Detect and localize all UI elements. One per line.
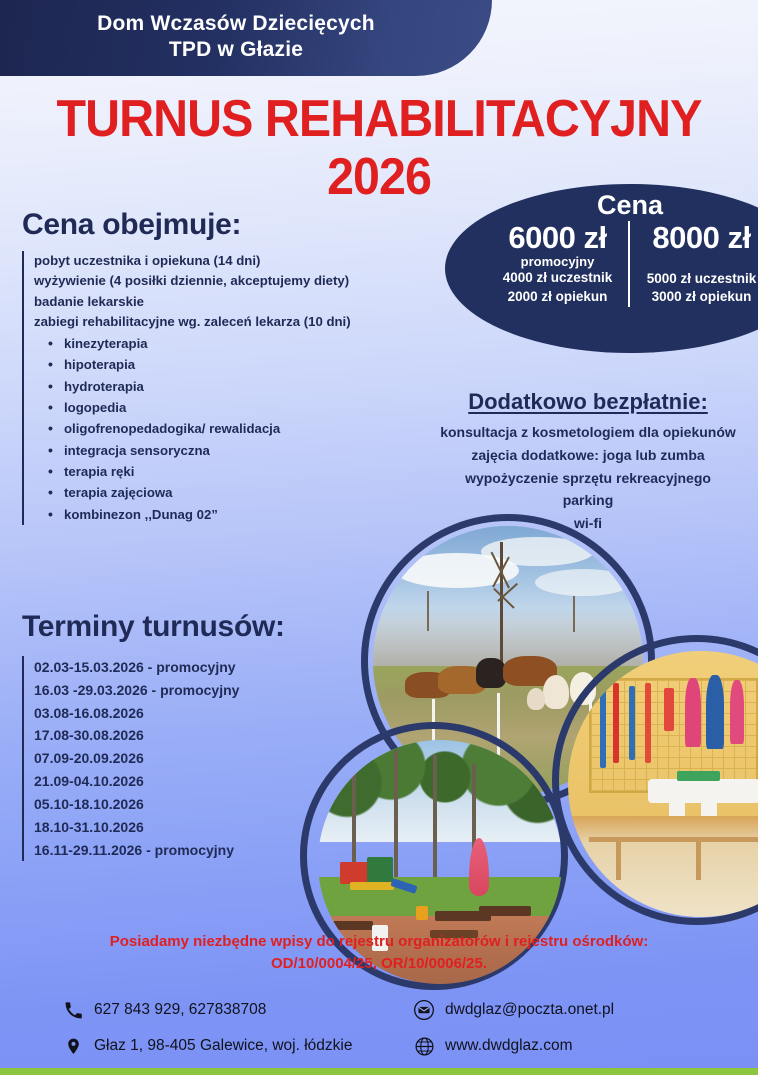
price-label-promotional: promocyjny <box>490 255 625 269</box>
poster-root: Dom Wczasów Dziecięcych TPD w Głazie TUR… <box>0 0 758 1075</box>
price-columns: 6000 zł promocyjny 4000 zł uczestnik 200… <box>445 221 758 307</box>
list-item: 17.08-30.08.2026 <box>34 724 402 747</box>
price-participant-promotional: 4000 zł uczestnik <box>490 269 625 288</box>
photo-playground-trunk <box>433 755 437 887</box>
organization-name-line1: Dom Wczasów Dziecięcych <box>97 11 375 37</box>
organization-name: Dom Wczasów Dziecięcych TPD w Głazie <box>97 11 375 62</box>
list-item: 21.09-04.10.2026 <box>34 770 402 793</box>
phone-icon <box>58 1001 88 1020</box>
contact-phone[interactable]: 627 843 929, 627838708 <box>58 992 379 1028</box>
list-item: 02.03-15.03.2026 - promocyjny <box>34 656 402 679</box>
list-item: kinezyterapia <box>64 333 442 354</box>
organization-name-line2: TPD w Głazie <box>97 37 375 63</box>
photo-animals-branch <box>427 591 429 631</box>
list-item: terapia ręki <box>64 461 442 482</box>
list-item: 05.10-18.10.2026 <box>34 793 402 816</box>
photo-rehab-rail-post <box>696 837 701 880</box>
list-item: 18.10-31.10.2026 <box>34 816 402 839</box>
photo-rehab-table <box>648 779 758 803</box>
photo-playground-table <box>479 906 531 916</box>
photo-rehab-equipment <box>730 680 744 744</box>
photo-rehab-equipment <box>685 678 701 747</box>
list-item: 07.09-20.09.2026 <box>34 747 402 770</box>
includes-line: badanie lekarskie <box>34 292 442 312</box>
list-item: kombinezon ,,Dunag 02” <box>64 504 442 525</box>
photo-rehab-equipment <box>706 675 724 749</box>
email-icon <box>409 999 439 1021</box>
list-item: 03.08-16.08.2026 <box>34 702 402 725</box>
includes-heading: Cena obejmuje: <box>22 210 442 240</box>
dates-heading: Terminy turnusów: <box>22 612 402 642</box>
contact-website[interactable]: www.dwdglaz.com <box>409 1028 758 1064</box>
page-title-line1: TURNUS REHABILITACYJNY <box>57 90 702 148</box>
contact-column-left: 627 843 929, 627838708 Głaz 1, 98-405 Ga… <box>0 992 379 1064</box>
price-column-promotional: 6000 zł promocyjny 4000 zł uczestnik 200… <box>487 221 630 307</box>
extras-line: zajęcia dodatkowe: joga lub zumba <box>418 444 758 467</box>
photo-playground-table <box>333 921 373 930</box>
contact-column-right: dwdglaz@poczta.onet.pl www.dwdglaz.com <box>379 992 758 1064</box>
includes-line: pobyt uczestnika i opiekuna (14 dni) <box>34 251 442 271</box>
list-item: 16.03 -29.03.2026 - promocyjny <box>34 679 402 702</box>
photo-rehab-floor <box>568 816 758 917</box>
photo-rehab-mat <box>677 771 720 782</box>
registry-note-line1: Posiadamy niezbędne wpisy do rejestru or… <box>0 931 758 953</box>
photo-playground-structure <box>340 862 370 884</box>
extras-line: parking <box>418 489 758 512</box>
dates-list: 02.03-15.03.2026 - promocyjny 16.03 -29.… <box>22 656 402 861</box>
photo-rehab-rail <box>589 837 758 842</box>
registry-note: Posiadamy niezbędne wpisy do rejestru or… <box>0 931 758 975</box>
list-item: terapia zajęciowa <box>64 482 442 503</box>
dates-section: Terminy turnusów: 02.03-15.03.2026 - pro… <box>22 612 402 861</box>
photo-animals-alpaca <box>527 688 545 710</box>
extras-heading: Dodatkowo bezpłatnie: <box>418 390 758 414</box>
photo-animals-branch <box>573 596 575 632</box>
photo-rehab-equipment <box>600 683 606 768</box>
price-participant-standard: 5000 zł uczestnik <box>633 270 758 289</box>
extras-line: wypożyczenie sprzętu rekreacyjnego <box>418 467 758 490</box>
extras-line: konsultacja z kosmetologiem dla opiekunó… <box>418 421 758 444</box>
photo-animals-alpaca <box>543 675 569 709</box>
bottom-accent-strip <box>0 1068 758 1075</box>
registry-note-line2: OD/10/0004/25, OR/10/0006/25. <box>0 953 758 975</box>
includes-line: wyżywienie (4 posiłki dziennie, akceptuj… <box>34 271 442 291</box>
price-heading: Cena <box>445 192 758 219</box>
photo-rehab-equipment <box>629 686 635 760</box>
photo-playground-structure <box>350 882 394 890</box>
contact-address[interactable]: Głaz 1, 98-405 Galewice, woj. łódzkie <box>58 1028 379 1064</box>
includes-body: pobyt uczestnika i opiekuna (14 dni) wyż… <box>22 251 442 525</box>
price-guardian-promotional: 2000 zł opiekun <box>490 288 625 307</box>
price-amount-standard: 8000 zł <box>633 221 758 256</box>
list-item: hipoterapia <box>64 354 442 375</box>
list-item: logopedia <box>64 397 442 418</box>
photo-rehab-room <box>568 651 758 917</box>
photo-playground-bin <box>416 906 428 920</box>
contact-bar: 627 843 929, 627838708 Głaz 1, 98-405 Ga… <box>0 992 758 1064</box>
price-callout: Cena 6000 zł promocyjny 4000 zł uczestni… <box>445 184 758 353</box>
phone-number: 627 843 929, 627838708 <box>94 1001 266 1019</box>
includes-section: Cena obejmuje: pobyt uczestnika i opieku… <box>22 210 442 525</box>
photo-rehab-equipment <box>613 683 619 763</box>
price-column-standard: 8000 zł 5000 zł uczestnik 3000 zł opieku… <box>630 221 758 307</box>
list-item: oligofrenopedadogika/ rewalidacja <box>64 418 442 439</box>
therapies-list: kinezyterapia hipoterapia hydroterapia l… <box>34 333 442 525</box>
location-pin-icon <box>58 1037 88 1056</box>
email-address: dwdglaz@poczta.onet.pl <box>445 1001 614 1019</box>
price-amount-promotional: 6000 zł <box>490 221 625 256</box>
contact-email[interactable]: dwdglaz@poczta.onet.pl <box>409 992 758 1028</box>
price-label-standard-spacer <box>633 256 758 270</box>
photo-rehab-equipment <box>645 683 651 763</box>
list-item: 16.11-29.11.2026 - promocyjny <box>34 839 402 862</box>
photo-animals-tree <box>500 542 503 666</box>
photo-rehab-rail-post <box>616 837 621 880</box>
header-banner: Dom Wczasów Dziecięcych TPD w Głazie <box>0 0 492 76</box>
price-guardian-standard: 3000 zł opiekun <box>633 288 758 307</box>
website-url: www.dwdglaz.com <box>445 1037 573 1055</box>
photo-animals-horse-dark <box>476 658 506 688</box>
globe-icon <box>409 1036 439 1057</box>
list-item: integracja sensoryczna <box>64 440 442 461</box>
list-item: hydroterapia <box>64 376 442 397</box>
includes-line: zabiegi rehabilitacyjne wg. zaleceń leka… <box>34 312 442 332</box>
address-text: Głaz 1, 98-405 Galewice, woj. łódzkie <box>94 1037 352 1055</box>
extras-section: Dodatkowo bezpłatnie: konsultacja z kosm… <box>418 390 758 535</box>
photo-rehab-equipment <box>664 688 674 731</box>
